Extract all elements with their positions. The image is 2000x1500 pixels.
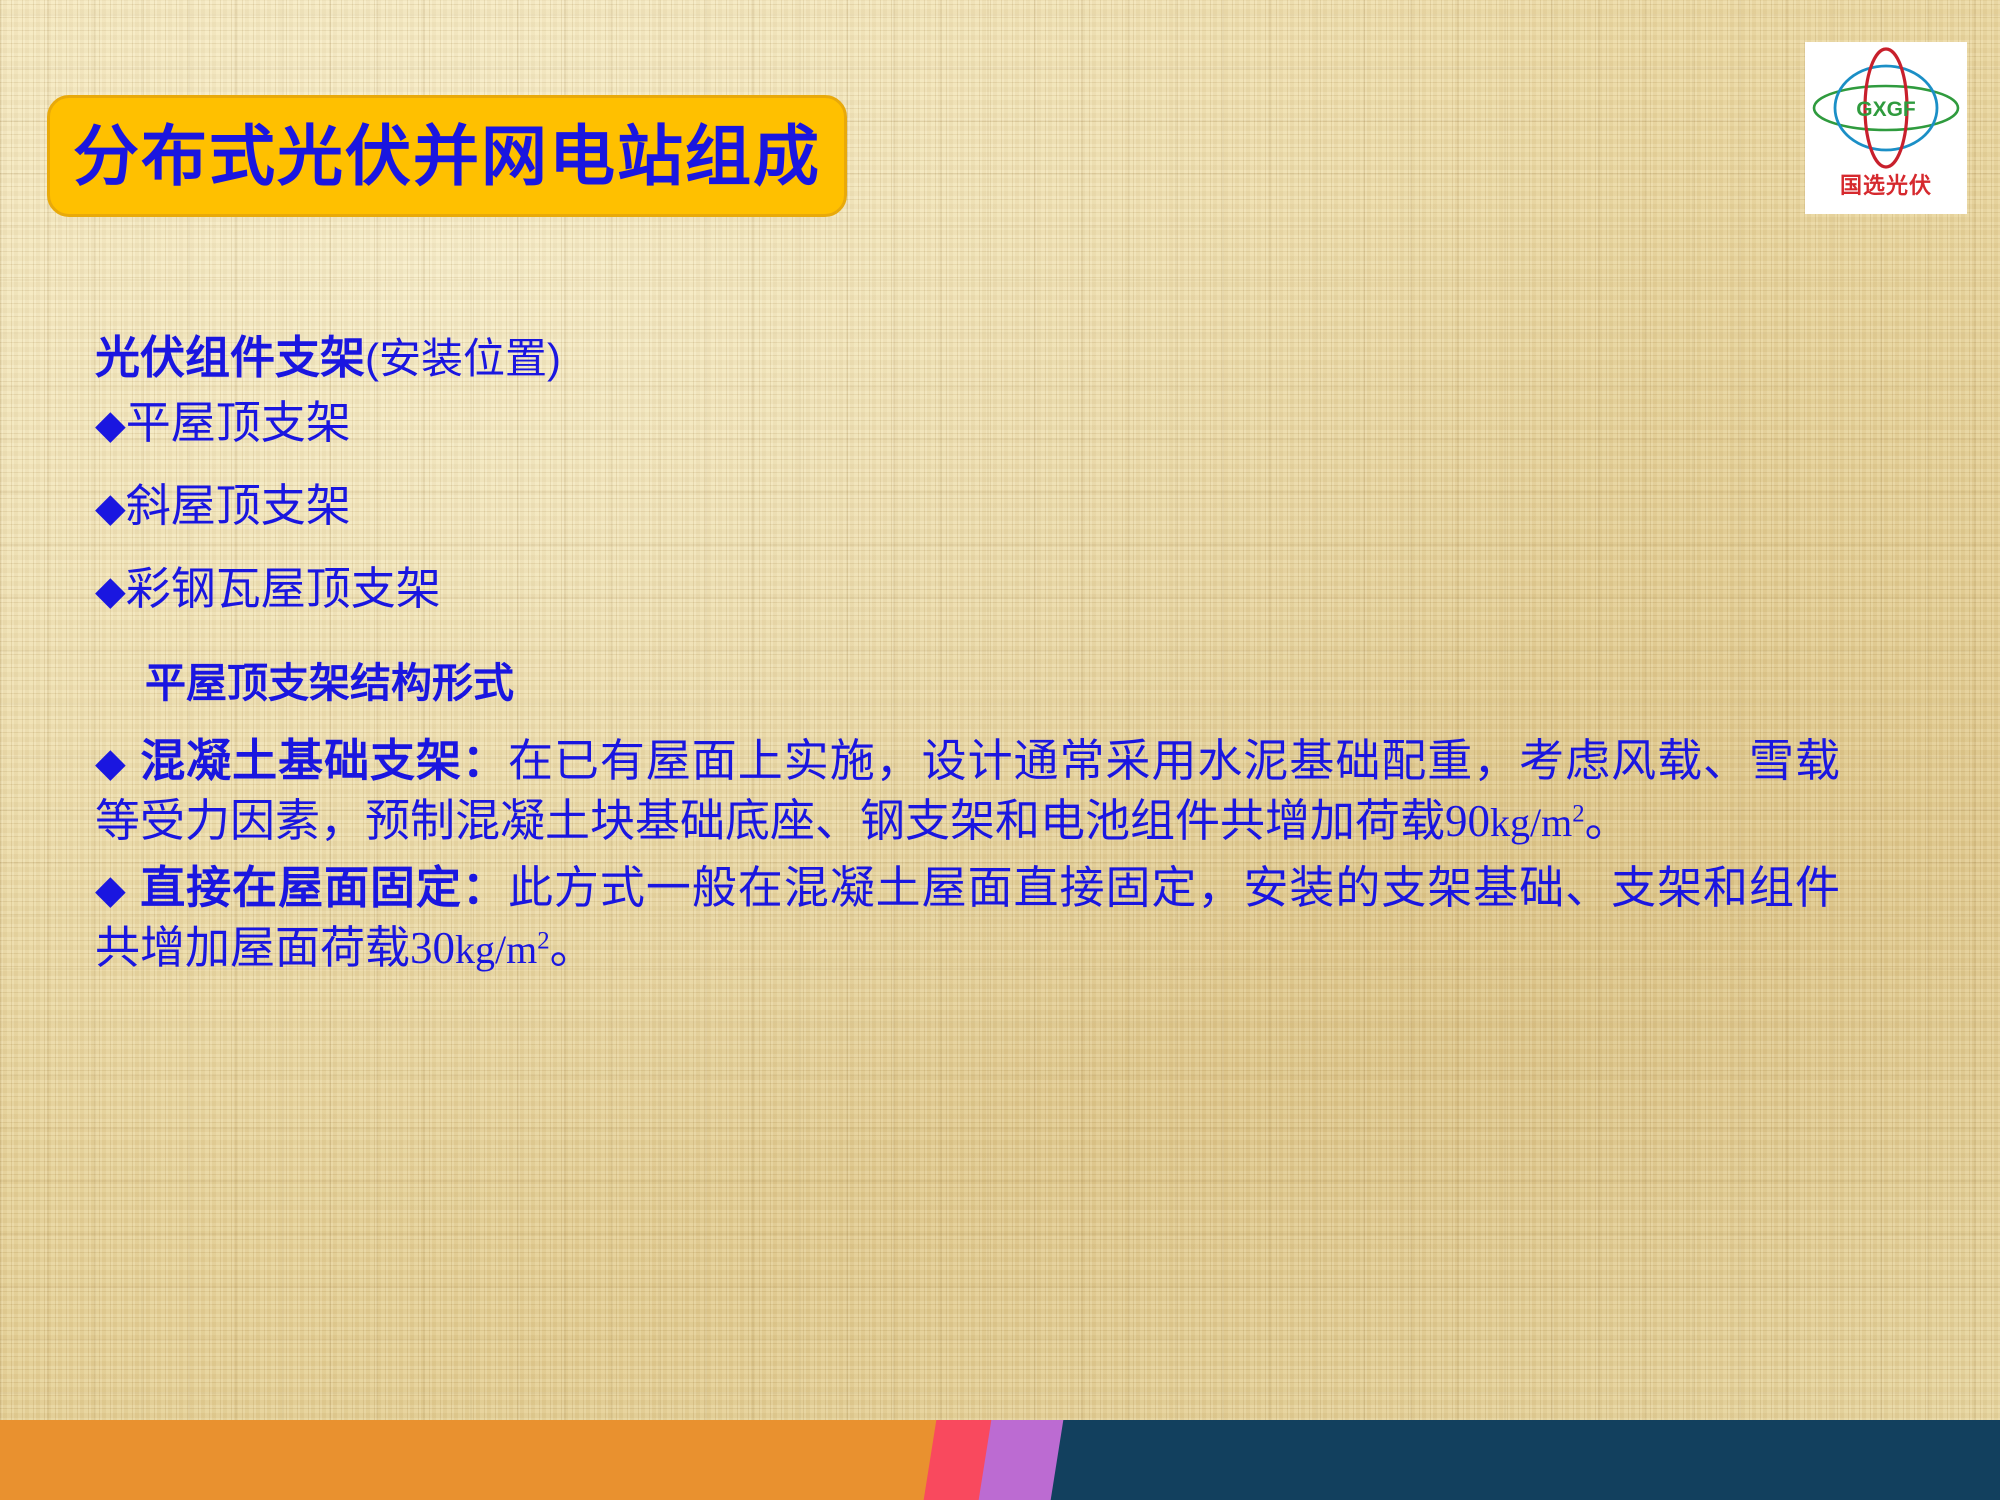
load-unit-text: kg/m — [1490, 800, 1572, 845]
list-item-label: 平屋顶支架 — [126, 397, 351, 448]
footer-band-navy — [1020, 1420, 2000, 1500]
detail-paragraph-tail: 。 — [550, 922, 595, 973]
load-unit: kg/m2 — [1490, 800, 1585, 845]
list-item-label: 斜屋顶支架 — [126, 480, 351, 531]
diamond-bullet-icon: ◆ — [95, 569, 126, 613]
section-heading: 光伏组件支架(安装位置) — [95, 330, 1895, 386]
detail-paragraph: ◆ 混凝土基础支架：在已有屋面上实施，设计通常采用水泥基础配重，考虑风载、雪载等… — [95, 731, 1840, 852]
list-item-label: 彩钢瓦屋顶支架 — [126, 563, 441, 614]
list-item: ◆平屋顶支架 — [95, 400, 1895, 445]
slide-body: 光伏组件支架(安装位置) ◆平屋顶支架 ◆斜屋顶支架 ◆彩钢瓦屋顶支架 平屋顶支… — [95, 330, 1895, 985]
logo-mark-text: GXGF — [1856, 98, 1916, 121]
section-heading-sub: (安装位置) — [365, 335, 561, 382]
company-logo: GXGF 国选光伏 — [1805, 42, 1967, 214]
section-heading-bold: 光伏组件支架 — [95, 332, 365, 383]
diamond-bullet-icon: ◆ — [95, 741, 127, 785]
diamond-bullet-icon: ◆ — [95, 403, 126, 447]
load-value: 30 — [410, 923, 455, 973]
load-value: 90 — [1445, 796, 1490, 846]
sub-section-heading: 平屋顶支架结构形式 — [145, 649, 1895, 709]
diamond-bullet-icon: ◆ — [95, 486, 126, 530]
footer-band-purple — [979, 1420, 1064, 1500]
page-title: 分布式光伏并网电站组成 — [73, 123, 821, 189]
slide-title-banner: 分布式光伏并网电站组成 — [47, 95, 847, 217]
load-unit-exponent: 2 — [537, 927, 549, 954]
footer-decorative-bar — [0, 1420, 2000, 1500]
list-item: ◆斜屋顶支架 — [95, 483, 1895, 528]
detail-paragraph-lead: 混凝土基础支架： — [140, 735, 508, 786]
load-unit: kg/m2 — [455, 927, 550, 972]
load-unit-exponent: 2 — [1572, 801, 1584, 828]
globe-rings-icon: GXGF — [1805, 42, 1967, 174]
diamond-bullet-icon: ◆ — [95, 868, 127, 912]
detail-paragraph-lead: 直接在屋面固定： — [140, 862, 508, 913]
presentation-slide: 分布式光伏并网电站组成 GXGF 国选光伏 光伏组件支架(安装位置) ◆平屋顶支… — [0, 0, 2000, 1500]
detail-paragraph: ◆ 直接在屋面固定：此方式一般在混凝土屋面直接固定，安装的支架基础、支架和组件共… — [95, 858, 1840, 979]
footer-band-orange — [0, 1420, 960, 1500]
load-unit-text: kg/m — [455, 927, 537, 972]
logo-caption: 国选光伏 — [1805, 168, 1967, 200]
detail-paragraph-tail: 。 — [1585, 795, 1630, 846]
list-item: ◆彩钢瓦屋顶支架 — [95, 566, 1895, 611]
